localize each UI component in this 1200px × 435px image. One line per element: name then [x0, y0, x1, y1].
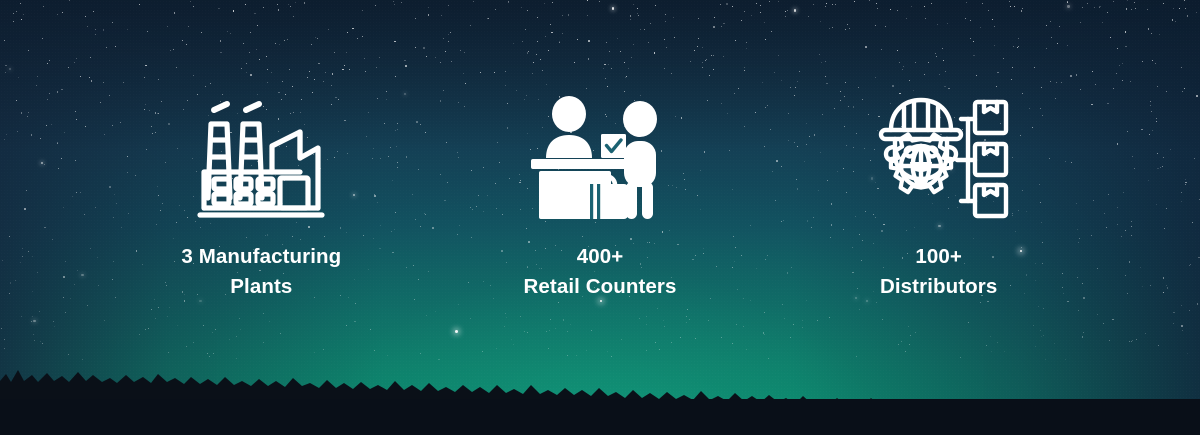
stat-item-manufacturing-plants: 3 Manufacturing Plants [92, 0, 431, 303]
stat-line-2: Distributors [880, 272, 997, 302]
retail-counter-icon [525, 96, 675, 222]
stat-line-2: Plants [181, 272, 341, 302]
stat-line-2: Retail Counters [524, 272, 677, 302]
distributor-network-icon [869, 96, 1009, 222]
stat-line-1: 400+ [577, 245, 624, 268]
stat-label-retail-counters: 400+ Retail Counters [524, 242, 677, 303]
stat-item-retail-counters: 400+ Retail Counters [431, 0, 770, 303]
company-stats-banner: 3 Manufacturing Plants [0, 0, 1200, 435]
stat-line-1: 100+ [915, 245, 962, 268]
stat-label-distributors: 100+ Distributors [880, 242, 997, 303]
stat-line-1: 3 Manufacturing [181, 245, 341, 268]
factory-icon [196, 96, 326, 222]
stat-label-manufacturing-plants: 3 Manufacturing Plants [181, 242, 341, 303]
stat-item-distributors: 100+ Distributors [769, 0, 1108, 303]
stats-row: 3 Manufacturing Plants [0, 0, 1200, 435]
